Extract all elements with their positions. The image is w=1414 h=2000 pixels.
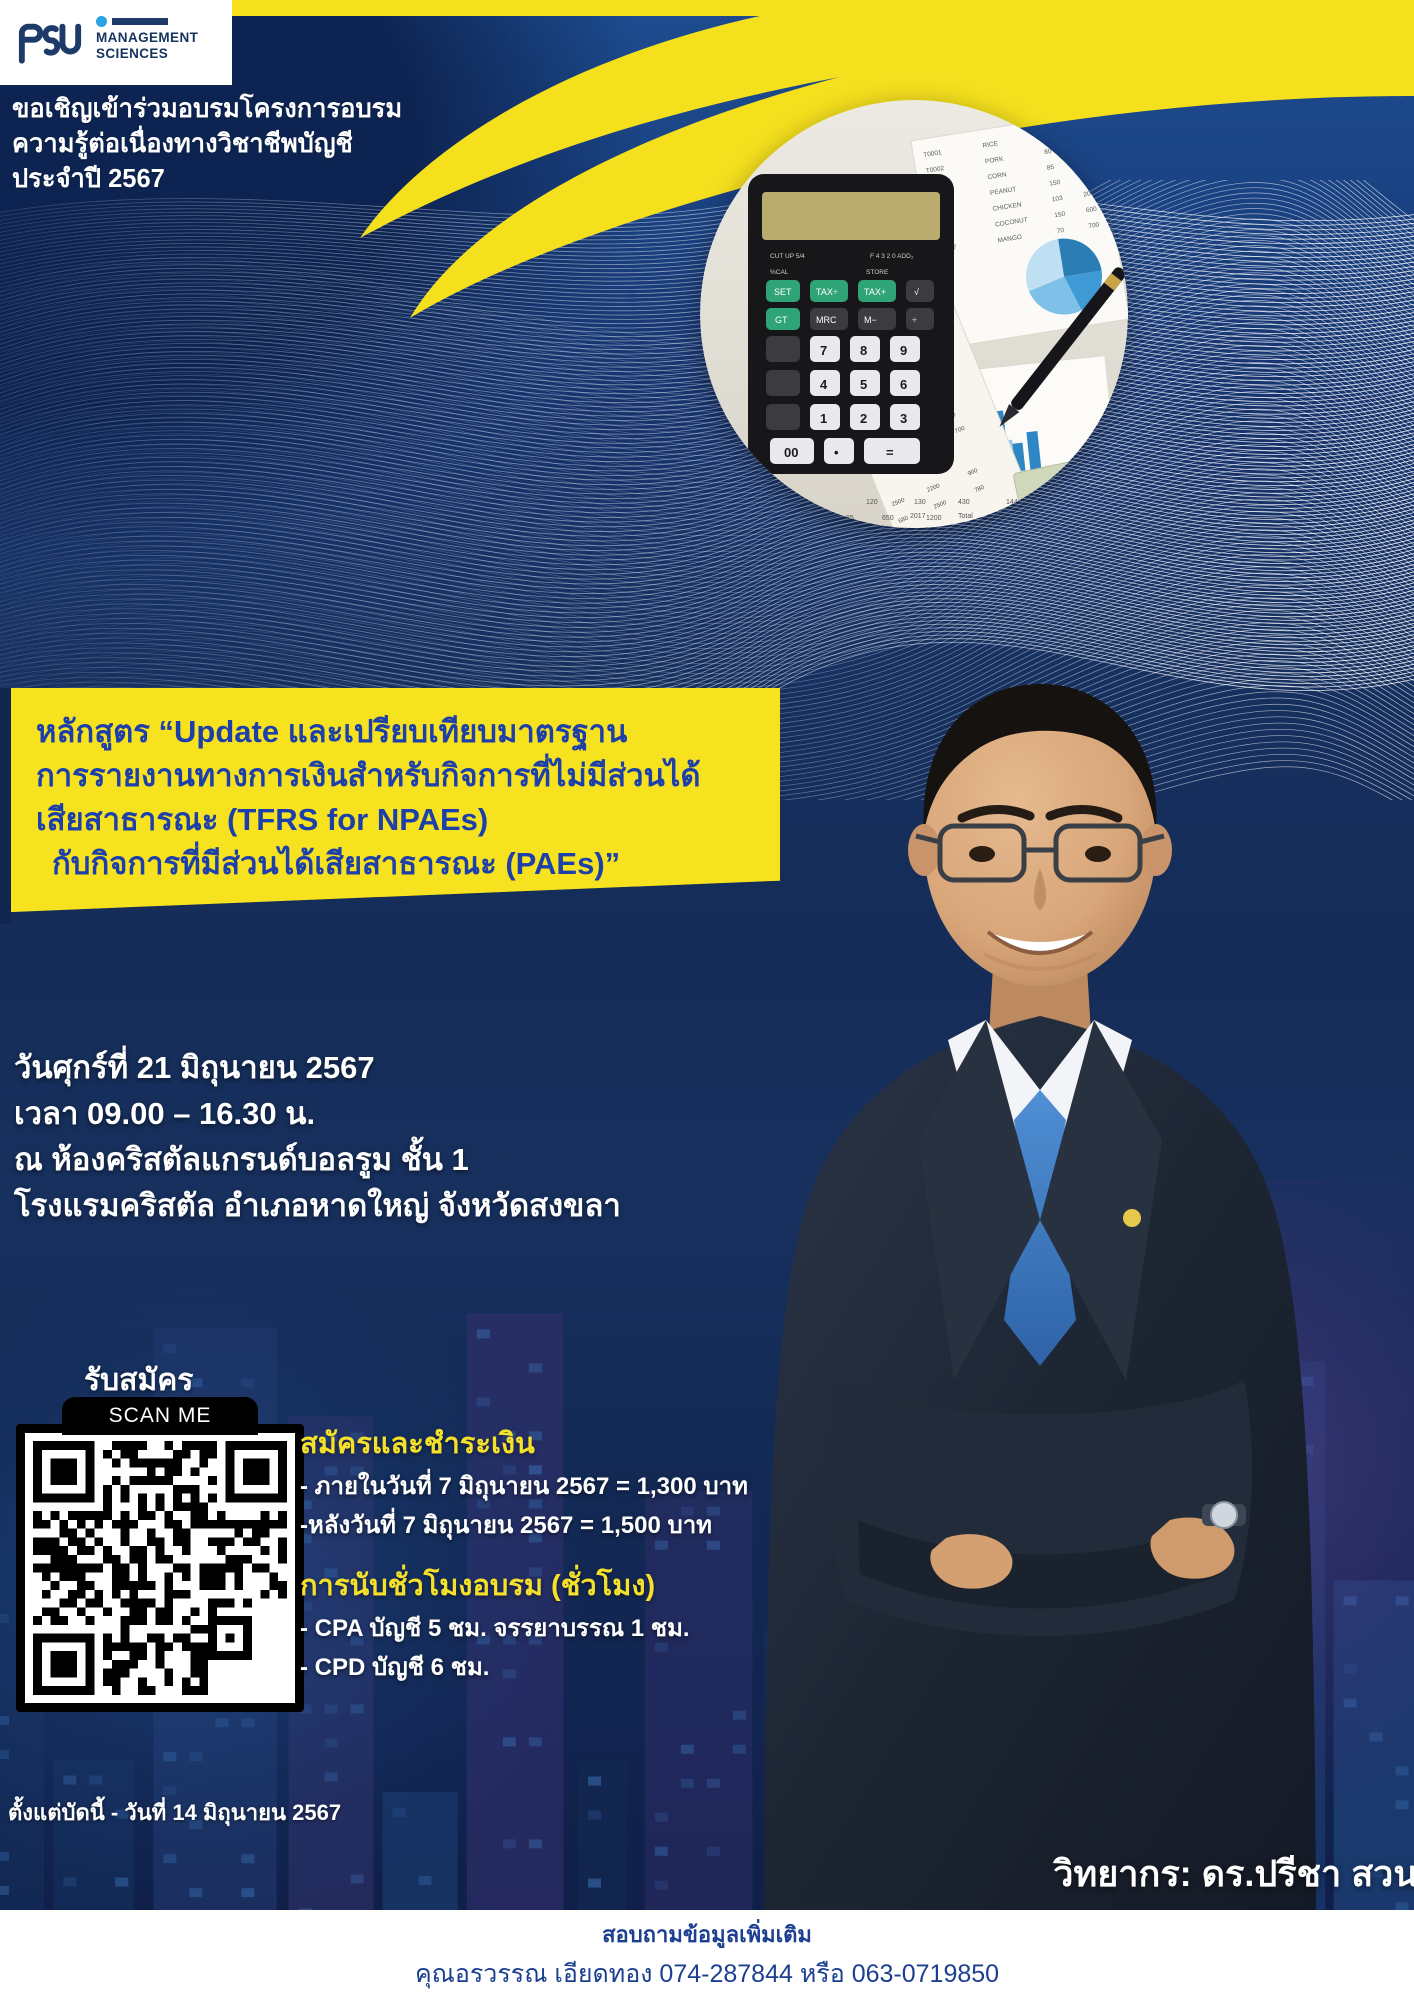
svg-text:√: √ [914,287,919,297]
footer-line-2: คุณอรวรรณ เอียดทอง 074-287844 หรือ 063-0… [415,1954,999,1994]
svg-text:F 4 3 2 0 ADD₂: F 4 3 2 0 ADD₂ [870,253,914,260]
title-left-accent-bar [0,688,11,924]
svg-text:2: 2 [860,411,867,426]
logo-dash-icon [112,18,168,25]
pricing-item-2: -หลังวันที่ 7 มิถุนายน 2567 = 1,500 บาท [300,1507,860,1546]
svg-text:430: 430 [958,499,970,506]
psu-logo-icon [14,19,86,67]
svg-text:1200: 1200 [926,515,942,522]
svg-text:TAX÷: TAX÷ [816,287,838,297]
svg-text:6: 6 [900,377,907,392]
course-title-line-1: หลักสูตร “Update และเปรียบเทียบมาตรฐาน [36,710,754,754]
logo-text-line1: MANAGEMENT [96,30,198,46]
svg-text:7: 7 [820,343,827,358]
registration-period: ตั้งแต่บัดนี้ - วันที่ 14 มิถุนายน 2567 [8,1795,341,1830]
calculator-financial-report-photo: T0001RICE120100 T0002PORK80200 T0003CORN… [700,100,1128,528]
hero-photo-circle: T0001RICE120100 T0002PORK80200 T0003CORN… [700,100,1128,528]
event-details-block: วันศุกร์ที่ 21 มิถุนายน 2567 เวลา 09.00 … [14,1045,621,1229]
svg-text:TAX+: TAX+ [864,287,886,297]
footer-line-1: สอบถามข้อมูลเพิ่มเติม [602,1917,812,1952]
logo-text-line2: SCIENCES [96,46,198,62]
svg-text:$: $ [1063,484,1073,500]
svg-text:70: 70 [1056,227,1065,235]
svg-text:200: 200 [1075,142,1087,151]
svg-text:5: 5 [860,377,867,392]
svg-text:120: 120 [866,499,878,506]
svg-text:CUT UP 5/4: CUT UP 5/4 [770,253,805,260]
svg-text:50: 50 [1081,175,1090,183]
header-line-3: ประจำปี 2567 [12,162,402,197]
svg-text:9: 9 [900,343,907,358]
footer-contact: สอบถามข้อมูลเพิ่มเติม คุณอรวรรณ เอียดทอง… [0,1910,1414,2000]
svg-text:85: 85 [1046,164,1055,172]
svg-text:100: 100 [1073,127,1085,136]
registration-qr-code[interactable] [16,1424,304,1712]
svg-text:00: 00 [784,445,798,460]
svg-text:SET: SET [774,287,792,297]
svg-text:Total: Total [958,513,973,520]
svg-text:=: = [886,445,894,460]
event-time: เวลา 09.00 – 16.30 น. [14,1091,621,1137]
svg-text:150: 150 [1078,158,1090,167]
svg-text:MRC: MRC [816,315,837,325]
svg-text:STORE: STORE [866,269,889,276]
poster-root: MANAGEMENT SCIENCES ขอเชิญเข้าร่วมอบรมโค… [0,0,1414,2000]
svg-text:80: 80 [1044,148,1053,156]
event-venue-line-1: ณ ห้องคริสตัลแกรนด์บอลรูม ชั้น 1 [14,1137,621,1183]
scan-me-badge: SCAN ME [62,1397,258,1435]
svg-text:4: 4 [820,377,828,392]
hours-item-1: - CPA บัญชี 5 ชม. จรรยาบรรณ 1 ชม. [300,1610,860,1649]
speaker-name: วิทยากร: ดร.ปรีชา สวน [1053,1845,1414,1902]
svg-text:÷: ÷ [912,315,917,325]
event-venue-line-2: โรงแรมคริสตัล อำเภอหาดใหญ่ จังหวัดสงขลา [14,1183,621,1229]
pricing-item-1: - ภายในวันที่ 7 มิถุนายน 2567 = 1,300 บา… [300,1468,860,1507]
svg-text:3: 3 [900,411,907,426]
svg-text:130: 130 [914,499,926,506]
pricing-heading: สมัครและชำระเงิน [300,1426,860,1462]
svg-text:•: • [834,445,839,460]
svg-text:2019: 2019 [1010,513,1026,520]
svg-text:8: 8 [860,343,867,358]
svg-text:2500: 2500 [1052,499,1068,506]
qr-code-icon[interactable] [33,1441,287,1695]
svg-text:GT: GT [775,315,788,325]
svg-text:%CAL: %CAL [770,269,789,276]
svg-text:2017: 2017 [910,513,926,520]
svg-text:20: 20 [1083,190,1092,198]
logo-dot-icon [96,16,107,27]
course-title-line-2: การรายงานทางการเงินสำหรับกิจการที่ไม่มีส… [36,754,754,798]
header-invitation-text: ขอเชิญเข้าร่วมอบรมโครงการอบรม ความรู้ต่อ… [12,92,402,198]
psu-logo-block: MANAGEMENT SCIENCES [0,0,232,85]
svg-text:1: 1 [820,411,827,426]
pricing-and-hours-block: สมัครและชำระเงิน - ภายในวันที่ 7 มิถุนาย… [300,1426,860,1688]
svg-text:120: 120 [1041,132,1053,141]
header-line-2: ความรู้ต่อเนื่องทางวิชาชีพบัญชี [12,127,402,162]
course-title-panel: หลักสูตร “Update และเปรียบเทียบมาตรฐาน ก… [10,688,780,912]
svg-text:85: 85 [846,515,854,522]
event-date: วันศุกร์ที่ 21 มิถุนายน 2567 [14,1045,621,1091]
hours-heading: การนับชั่วโมงอบรม (ชั่วโมง) [300,1568,860,1604]
course-title-line-3: เสียสาธารณะ (TFRS for NPAEs) [36,798,754,842]
svg-text:650: 650 [882,515,894,522]
speaker-portrait [740,620,1414,1910]
course-title-line-4: กับกิจการที่มีส่วนได้เสียสาธารณะ (PAEs)” [36,842,754,886]
hours-item-2: - CPD บัญชี 6 ชม. [300,1649,860,1688]
header-line-1: ขอเชิญเข้าร่วมอบรมโครงการอบรม [12,92,402,127]
svg-text:M−: M− [864,315,877,325]
